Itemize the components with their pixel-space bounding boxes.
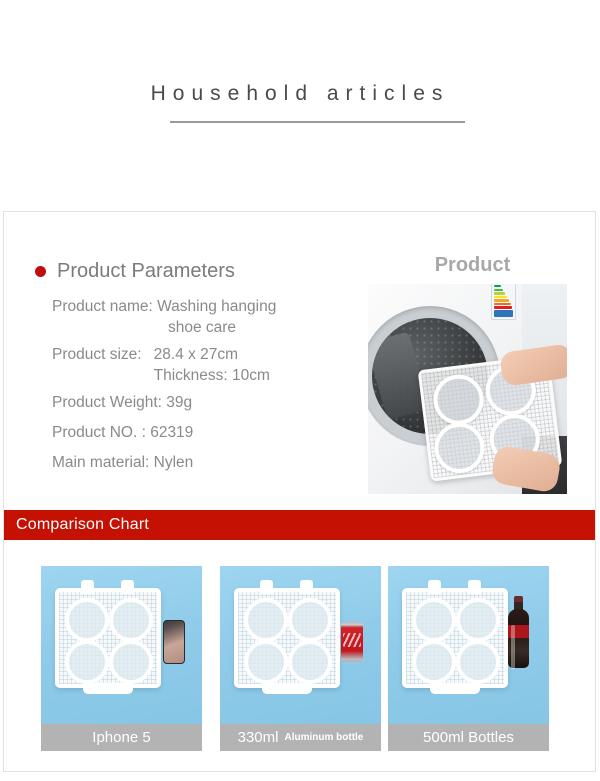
- bag-handle-left: [81, 580, 94, 594]
- parameter-row-product-size: Product size: 28.4 x 27cm Thickness: 10c…: [52, 344, 352, 386]
- parameter-size-label: Product size:: [52, 344, 142, 386]
- bottle-highlight: [511, 625, 515, 669]
- energy-bar-d: [494, 296, 507, 298]
- bag-handle-left: [260, 580, 273, 594]
- parameter-name-line2: shoe care: [52, 317, 352, 338]
- bottle-body: [508, 609, 529, 668]
- card-caption-bar: 330ml Aluminum bottle: [220, 724, 381, 751]
- reference-object-plastic-bottle: [508, 596, 529, 668]
- parameter-row-product-name: Product name: Washing hanging shoe care: [52, 296, 352, 338]
- energy-bar-e: [494, 299, 509, 301]
- energy-label-footer: [494, 310, 513, 317]
- parameters-list: Product name: Washing hanging shoe care …: [52, 296, 352, 482]
- parameter-row-main-material: Main material: Nylen: [52, 452, 352, 473]
- bag-bottom-flap: [430, 683, 480, 694]
- bag-pocket-3: [244, 640, 288, 684]
- card-caption-main: 330ml: [238, 729, 279, 746]
- page-header: Household articles: [0, 0, 600, 211]
- product-parameters-section: Product Parameters Product name: Washing…: [4, 212, 364, 502]
- content-panel: Product Parameters Product name: Washing…: [3, 211, 596, 772]
- energy-rating-label: [491, 284, 516, 320]
- comparison-card-iphone: Iphone 5: [41, 566, 202, 751]
- can-logo-script: [343, 633, 361, 647]
- parameter-row-product-no: Product NO. : 62319: [52, 422, 352, 443]
- card-caption-sub: Aluminum bottle: [284, 732, 363, 743]
- parameter-size-values: 28.4 x 27cm Thickness: 10cm: [154, 344, 270, 386]
- product-photo: [368, 284, 567, 494]
- bag-bottom-flap: [83, 683, 133, 694]
- page-title: Household articles: [0, 82, 600, 106]
- card-caption-main: 500ml Bottles: [423, 729, 514, 746]
- reference-object-phone: [163, 620, 185, 664]
- title-divider: [170, 121, 465, 123]
- bag-handle-left: [428, 580, 441, 594]
- bag-pocket-4: [288, 640, 332, 684]
- parameter-thickness-value: Thickness: 10cm: [154, 365, 270, 386]
- bullet-dot-icon: [35, 266, 46, 277]
- bag-pocket-3: [412, 640, 456, 684]
- bag-handle-right: [300, 580, 313, 594]
- comparison-card-plastic-bottle: 500ml Bottles: [388, 566, 549, 751]
- product-image-block: Product: [365, 212, 597, 502]
- bag-pocket-1: [65, 598, 109, 642]
- bag-pocket-2: [456, 598, 500, 642]
- parameter-row-product-weight: Product Weight: 39g: [52, 392, 352, 413]
- energy-bar-g: [494, 306, 512, 308]
- parameter-size-wrapper: Product size: 28.4 x 27cm Thickness: 10c…: [52, 344, 352, 386]
- bag-pocket-1: [412, 598, 456, 642]
- shoe-wash-bag-front-view: [234, 588, 340, 688]
- shoe-wash-bag-front-view: [402, 588, 508, 688]
- bag-handle-right: [121, 580, 134, 594]
- bag-pocket-1: [244, 598, 288, 642]
- card-caption-main: Iphone 5: [92, 729, 150, 746]
- bag-pocket-4: [109, 640, 153, 684]
- product-parameters-title: Product Parameters: [57, 260, 235, 283]
- comparison-cards-row: Iphone 5 330ml Aluminum bottle: [4, 566, 595, 751]
- bag-bottom-flap: [262, 683, 312, 694]
- bag-pocket-3: [65, 640, 109, 684]
- energy-bar-f: [494, 303, 511, 305]
- parameter-size-value: 28.4 x 27cm: [154, 344, 270, 365]
- shoe-wash-bag-front-view: [55, 588, 161, 688]
- energy-bar-a: [494, 285, 501, 287]
- bag-handle-right: [468, 580, 481, 594]
- comparison-chart-banner: Comparison Chart: [4, 510, 595, 540]
- parameter-name-line1: Product name: Washing hanging: [52, 298, 276, 315]
- bag-pocket-2: [109, 598, 153, 642]
- comparison-card-aluminum-can: 330ml Aluminum bottle: [220, 566, 381, 751]
- product-image-label: Product: [365, 254, 580, 277]
- card-caption-bar: Iphone 5: [41, 724, 202, 751]
- bag-pocket-4: [456, 640, 500, 684]
- product-parameters-heading: Product Parameters: [35, 260, 235, 283]
- energy-bar-c: [494, 292, 505, 294]
- energy-bar-b: [494, 289, 503, 291]
- comparison-chart-title: Comparison Chart: [16, 516, 149, 534]
- card-caption-bar: 500ml Bottles: [388, 724, 549, 751]
- bag-pocket-2: [288, 598, 332, 642]
- reference-object-aluminum-can: [341, 622, 363, 662]
